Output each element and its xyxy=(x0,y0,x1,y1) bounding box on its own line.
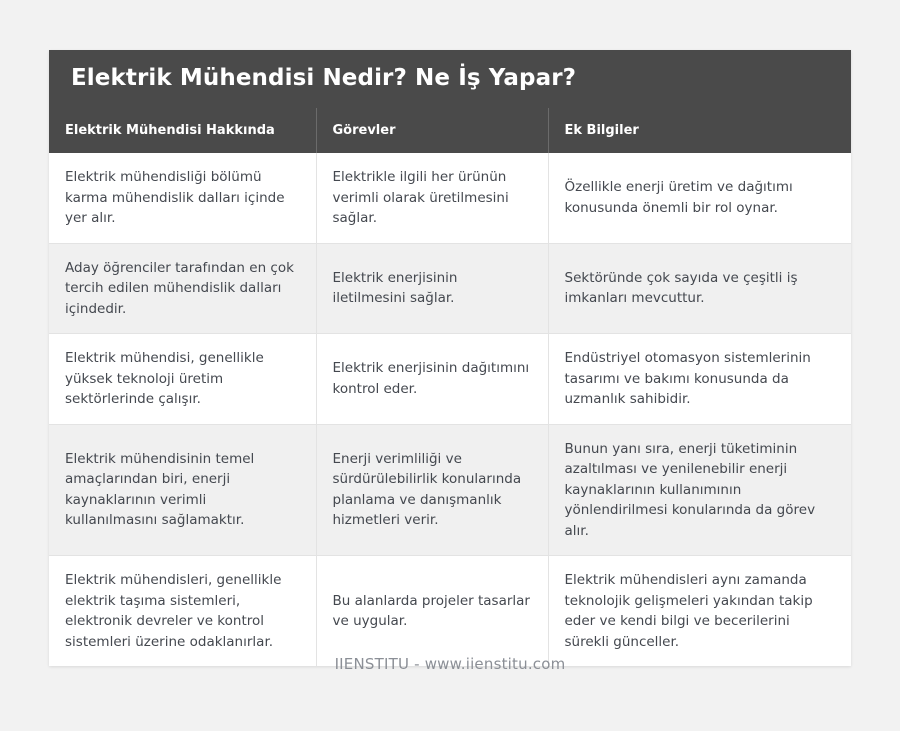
cell-duties: Elektrikle ilgili her ürünün verimli ola… xyxy=(316,153,548,243)
column-header-extra-info: Ek Bilgiler xyxy=(548,108,851,153)
cell-about: Aday öğrenciler tarafından en çok tercih… xyxy=(49,243,316,334)
table-row: Elektrik mühendisliği bölümü karma mühen… xyxy=(49,153,851,243)
cell-about: Elektrik mühendisi, genellikle yüksek te… xyxy=(49,334,316,425)
cell-about: Elektrik mühendisleri, genellikle elektr… xyxy=(49,556,316,667)
table-body: Elektrik mühendisliği bölümü karma mühen… xyxy=(49,153,851,666)
page-title: Elektrik Mühendisi Nedir? Ne İş Yapar? xyxy=(71,66,576,91)
info-table: Elektrik Mühendisi Hakkında Görevler Ek … xyxy=(49,108,851,666)
table-row: Elektrik mühendisinin temel amaçlarından… xyxy=(49,424,851,556)
table-header-row: Elektrik Mühendisi Hakkında Görevler Ek … xyxy=(49,108,851,153)
table-row: Aday öğrenciler tarafından en çok tercih… xyxy=(49,243,851,334)
cell-duties: Enerji verimliliği ve sürdürülebilirlik … xyxy=(316,424,548,556)
column-header-duties: Görevler xyxy=(316,108,548,153)
cell-extra-info: Bunun yanı sıra, enerji tüketiminin azal… xyxy=(548,424,851,556)
card-title-bar: Elektrik Mühendisi Nedir? Ne İş Yapar? xyxy=(49,50,851,108)
cell-extra-info: Sektöründe çok sayıda ve çeşitli iş imka… xyxy=(548,243,851,334)
table-row: Elektrik mühendisi, genellikle yüksek te… xyxy=(49,334,851,425)
cell-extra-info: Elektrik mühendisleri aynı zamanda tekno… xyxy=(548,556,851,667)
cell-duties: Elektrik enerjisinin dağıtımını kontrol … xyxy=(316,334,548,425)
column-header-about: Elektrik Mühendisi Hakkında xyxy=(49,108,316,153)
table-row: Elektrik mühendisleri, genellikle elektr… xyxy=(49,556,851,667)
cell-about: Elektrik mühendisliği bölümü karma mühen… xyxy=(49,153,316,243)
cell-duties: Bu alanlarda projeler tasarlar ve uygula… xyxy=(316,556,548,667)
table-header: Elektrik Mühendisi Hakkında Görevler Ek … xyxy=(49,108,851,153)
page-root: Elektrik Mühendisi Nedir? Ne İş Yapar? E… xyxy=(0,0,900,731)
cell-duties: Elektrik enerjisinin iletilmesini sağlar… xyxy=(316,243,548,334)
cell-extra-info: Özellikle enerji üretim ve dağıtımı konu… xyxy=(548,153,851,243)
cell-about: Elektrik mühendisinin temel amaçlarından… xyxy=(49,424,316,556)
info-card: Elektrik Mühendisi Nedir? Ne İş Yapar? E… xyxy=(49,50,851,666)
footer-attribution: IIENSTITU - www.iienstitu.com xyxy=(0,655,900,673)
cell-extra-info: Endüstriyel otomasyon sistemlerinin tasa… xyxy=(548,334,851,425)
